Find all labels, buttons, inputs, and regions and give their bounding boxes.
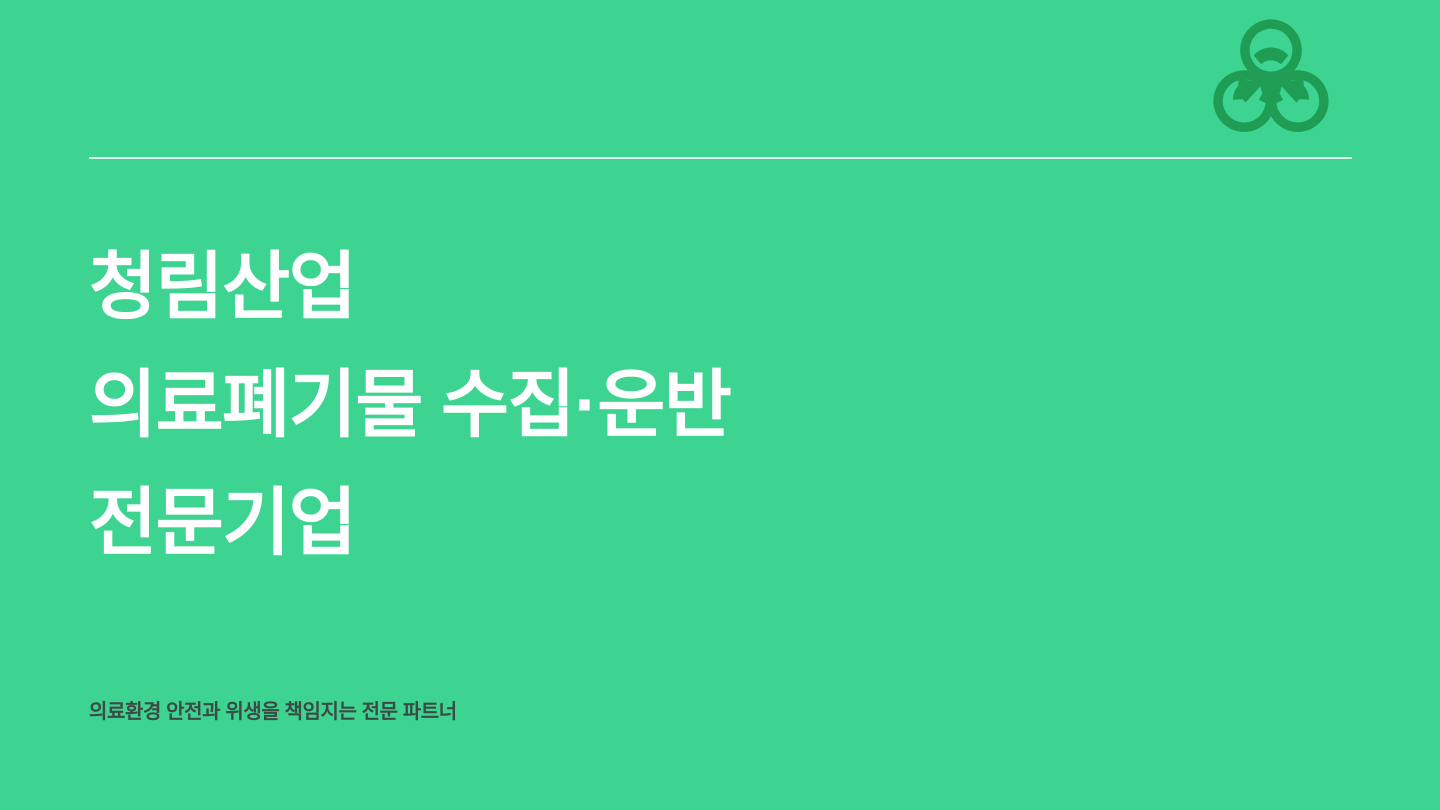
title-slide: 청림산업 의료폐기물 수집·운반 전문기업 의료환경 안전과 위생을 책임지는 … <box>0 0 1440 810</box>
headline-line-3: 전문기업 <box>89 464 1289 582</box>
tagline: 의료환경 안전과 위생을 책임지는 전문 파트너 <box>89 699 457 725</box>
headline-line-1: 청림산업 <box>89 228 1289 346</box>
headline-line-2: 의료폐기물 수집·운반 <box>89 346 1289 464</box>
header-divider <box>89 157 1352 159</box>
biohazard-icon <box>1199 14 1343 148</box>
page-title: 청림산업 의료폐기물 수집·운반 전문기업 <box>89 228 1289 582</box>
